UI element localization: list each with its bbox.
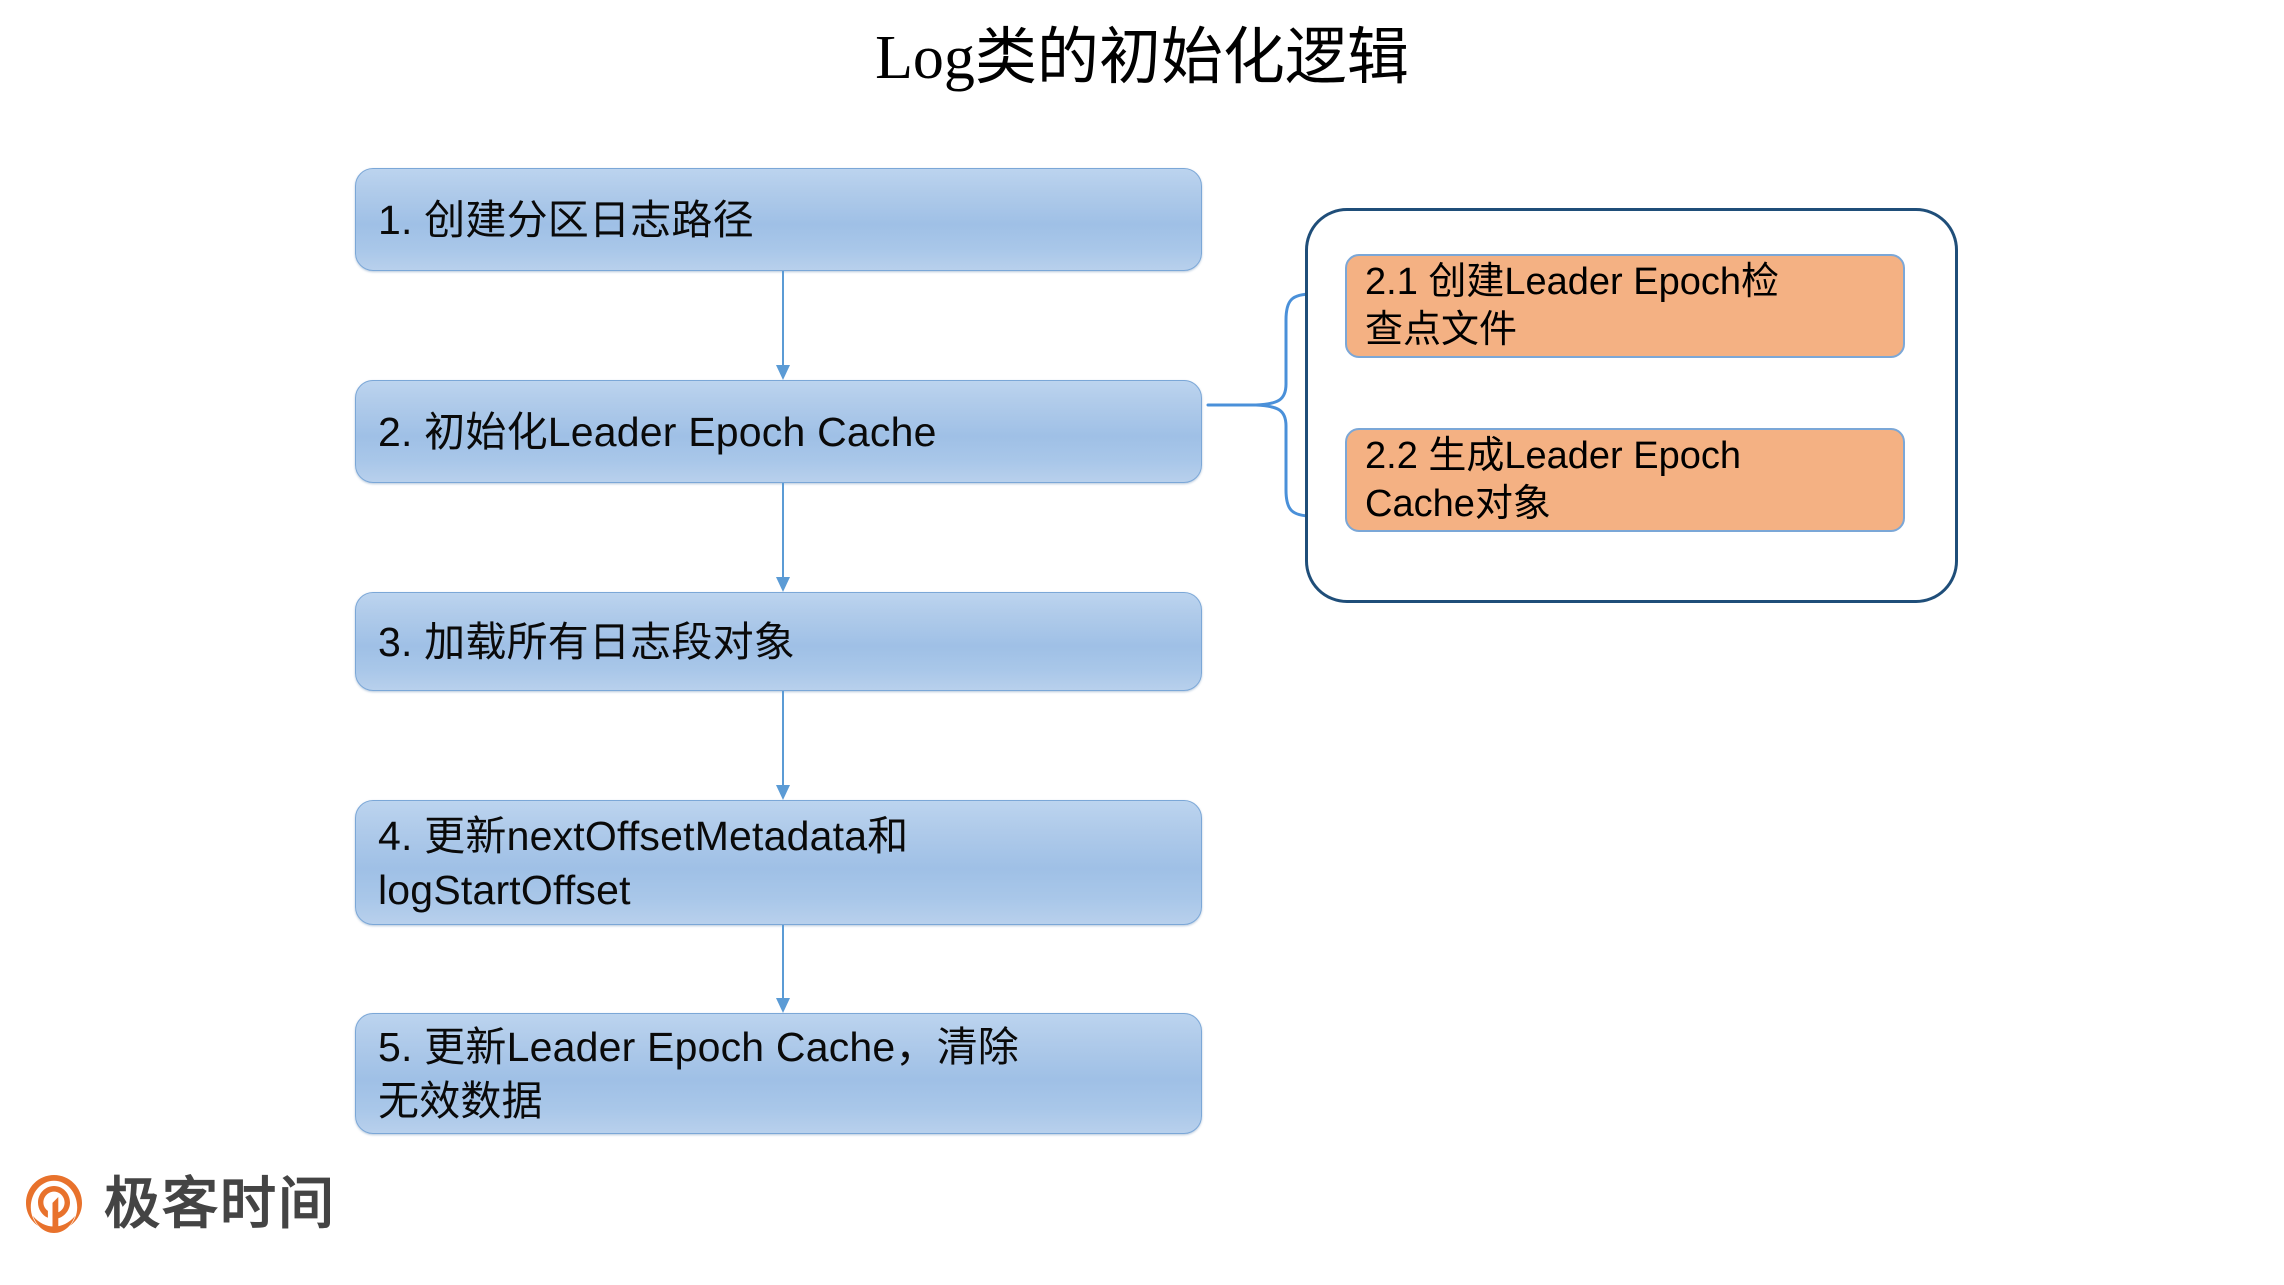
flow-step-1[interactable]: 1. 创建分区日志路径 <box>355 168 1202 271</box>
curly-brace-icon <box>1200 290 1315 520</box>
geektime-wordmark: 极客时间 <box>104 1172 336 1236</box>
flow-step-3-label: 3. 加载所有日志段对象 <box>378 615 795 669</box>
arrow-head-icon <box>776 785 790 800</box>
arrow-shaft <box>782 271 784 365</box>
flow-step-2[interactable]: 2. 初始化Leader Epoch Cache <box>355 380 1202 483</box>
flow-step-1-label: 1. 创建分区日志路径 <box>378 193 754 247</box>
flow-step-2-label: 2. 初始化Leader Epoch Cache <box>378 405 937 459</box>
substep-2-2-label: 2.2 生成Leader Epoch Cache对象 <box>1365 432 1741 528</box>
page-title: Log类的初始化逻辑 <box>0 20 2284 96</box>
arrow-step3-to-step4 <box>776 691 790 800</box>
flow-step-4[interactable]: 4. 更新nextOffsetMetadata和 logStartOffset <box>355 800 1202 925</box>
arrow-shaft <box>782 691 784 785</box>
arrow-shaft <box>782 483 784 577</box>
flow-step-3[interactable]: 3. 加载所有日志段对象 <box>355 592 1202 691</box>
geektime-mark-icon <box>22 1172 86 1236</box>
flow-step-4-label: 4. 更新nextOffsetMetadata和 logStartOffset <box>378 809 908 917</box>
footer-logo: 极客时间 <box>22 1172 336 1236</box>
substep-2-1-label: 2.1 创建Leader Epoch检 查点文件 <box>1365 258 1779 354</box>
flow-step-5-label: 5. 更新Leader Epoch Cache，清除 无效数据 <box>378 1020 1019 1128</box>
arrow-step2-to-step3 <box>776 483 790 592</box>
curly-brace-connector <box>1200 290 1315 520</box>
substep-2-1[interactable]: 2.1 创建Leader Epoch检 查点文件 <box>1345 254 1905 358</box>
arrow-head-icon <box>776 365 790 380</box>
flow-step-5[interactable]: 5. 更新Leader Epoch Cache，清除 无效数据 <box>355 1013 1202 1134</box>
arrow-step1-to-step2 <box>776 271 790 380</box>
arrow-head-icon <box>776 577 790 592</box>
arrow-step4-to-step5 <box>776 925 790 1013</box>
arrow-head-icon <box>776 998 790 1013</box>
arrow-shaft <box>782 925 784 998</box>
substep-2-2[interactable]: 2.2 生成Leader Epoch Cache对象 <box>1345 428 1905 532</box>
geektime-logo-icon <box>22 1172 86 1236</box>
